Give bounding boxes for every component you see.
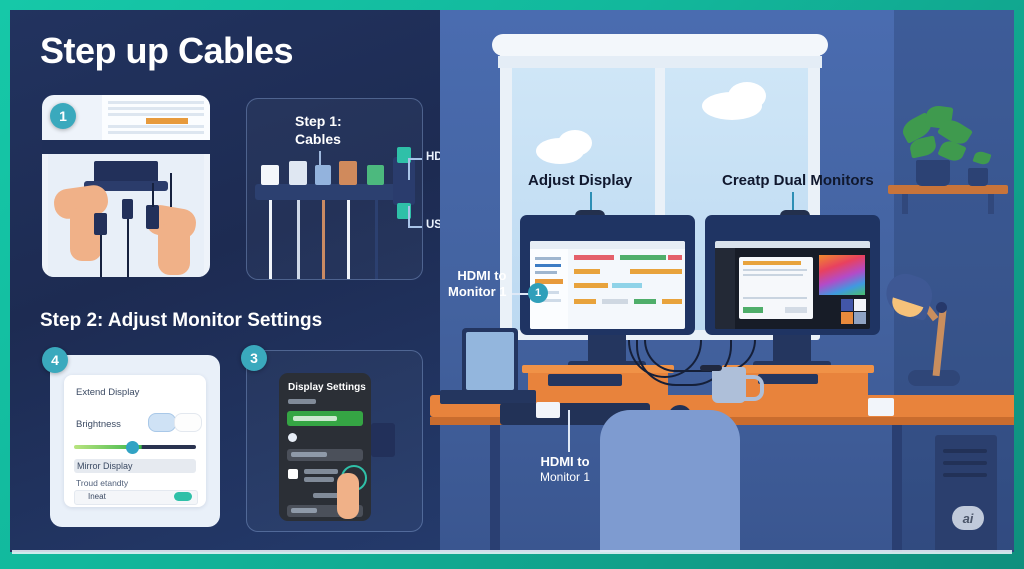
checkbox-option[interactable] <box>288 469 298 479</box>
label-extend-display: Extend Display <box>76 387 139 398</box>
phone-sublabel <box>288 399 316 404</box>
desk-surface-strip <box>42 140 210 154</box>
cloud-left-top <box>558 130 592 156</box>
inner-frame: Step up Cables <box>10 10 1014 552</box>
monitor-number-badge: 1 <box>528 283 548 303</box>
cable-plug-right <box>146 205 159 229</box>
radio-option[interactable] <box>288 433 297 442</box>
sticky-note-right <box>868 398 894 416</box>
desk-leg-right <box>892 425 902 552</box>
step2-heading: Step 2: Adjust Monitor Settings <box>40 310 322 332</box>
coffee-mug <box>712 367 746 403</box>
label-hdmi-monitor1-left: HDMI to Monitor 1 <box>448 268 507 301</box>
cloud-right-top <box>728 82 766 110</box>
usbc-leader-line <box>408 226 422 228</box>
badge-step-3: 3 <box>241 345 267 371</box>
hdmi-bottom-leader <box>568 410 570 452</box>
bottom-accent-line <box>12 550 1012 554</box>
panel-display-settings-card[interactable]: Extend Display Brightness Mirror Display… <box>50 355 220 527</box>
right-forearm <box>158 223 190 275</box>
infographic-canvas: Step up Cables <box>0 0 1024 569</box>
usbc-leader-vert <box>408 206 410 228</box>
left-monitor-stand <box>588 335 626 361</box>
cable-tray <box>440 390 536 404</box>
adjust-display-leader <box>590 192 592 212</box>
window-blind-valance <box>498 56 822 68</box>
desk-leg-left <box>490 425 500 552</box>
laptop-dock <box>94 161 158 183</box>
shelf-bracket-right <box>988 194 994 214</box>
ineat-toggle[interactable] <box>174 492 192 501</box>
left-monitor-screen <box>530 241 685 329</box>
phone-title: Display Settings <box>288 382 366 393</box>
tablet-screen <box>466 332 514 390</box>
badge-step-4: 4 <box>42 347 68 373</box>
right-monitor[interactable] <box>705 215 880 335</box>
label-troud-etandty: Troud etandty <box>76 478 128 488</box>
label-create-dual-monitors: Creatp Dual Monitors <box>722 172 874 189</box>
right-monitor-stand <box>773 335 811 361</box>
riser-device-right <box>758 374 818 384</box>
settings-card-surface: Extend Display Brightness Mirror Display… <box>64 375 206 507</box>
monitor-screen-thumb <box>102 95 210 140</box>
connector-green <box>367 165 384 185</box>
pc-tower[interactable] <box>935 435 997 552</box>
riser-device-left <box>548 374 622 386</box>
shelf-bracket-left <box>902 194 908 214</box>
brightness-toggle-right[interactable] <box>174 413 202 432</box>
plant-pot-small <box>968 168 988 186</box>
connector-copper <box>339 161 357 185</box>
wall-shelf <box>888 185 1008 194</box>
page-title: Step up Cables <box>40 30 293 72</box>
phone-connector <box>371 423 395 457</box>
hdmi-leader-line <box>408 158 422 160</box>
label-ineat: Ineat <box>88 492 106 501</box>
cable-plug-center <box>122 199 133 219</box>
plant-pot <box>916 160 950 186</box>
hdmi-leader-vert <box>408 160 410 180</box>
cable-plug-left <box>94 213 107 235</box>
cable-rail <box>255 184 405 200</box>
step1-heading: Step 1: Cables <box>295 113 342 148</box>
label-mirror-display: Mirror Display <box>77 461 133 471</box>
panel-phone-settings[interactable]: Display Settings 3 <box>246 350 423 532</box>
office-scene: Adjust Display Creatp Dual Monitors <box>440 10 1014 552</box>
left-monitor[interactable] <box>520 215 695 335</box>
adapter-body <box>393 157 415 205</box>
window-blind-roller <box>492 34 828 56</box>
left-info-column: Step up Cables <box>10 10 440 552</box>
connector-light <box>289 161 307 185</box>
pointing-finger <box>337 473 359 519</box>
ai-watermark-badge: ai <box>952 506 984 530</box>
panel-step1-cables[interactable]: Step 1: Cables <box>246 98 423 280</box>
label-hdmi-monitor1-bottom: HDMI to Monitor 1 <box>540 454 590 485</box>
mug-handle <box>744 375 764 401</box>
panel-hands-cables[interactable]: 1 <box>42 95 210 277</box>
right-monitor-screen <box>715 241 870 329</box>
sticky-note-left <box>536 402 560 418</box>
connector-white <box>261 165 279 185</box>
brightness-toggle-left[interactable] <box>148 413 176 432</box>
office-chair[interactable] <box>600 410 740 552</box>
badge-step-1: 1 <box>50 103 76 129</box>
brightness-slider-knob[interactable] <box>126 441 139 454</box>
lamp-joint <box>936 302 947 313</box>
label-brightness: Brightness <box>76 419 121 430</box>
connector-blue <box>315 165 331 185</box>
label-adjust-display: Adjust Display <box>528 172 632 189</box>
phone-device: Display Settings <box>279 373 371 521</box>
